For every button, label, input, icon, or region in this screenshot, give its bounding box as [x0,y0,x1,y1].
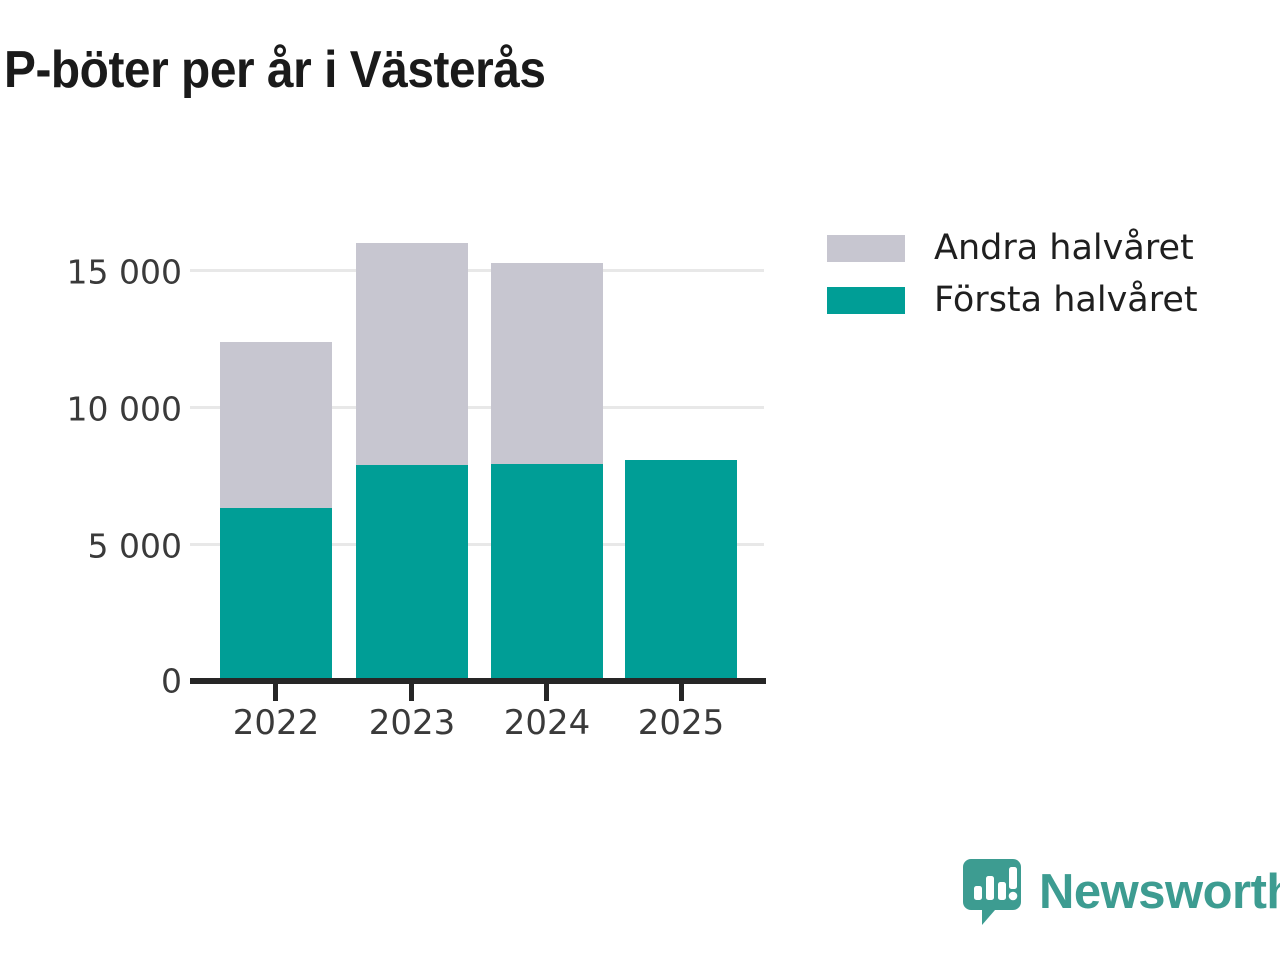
gridline-15000 [190,269,764,272]
xtick-label-2025: 2025 [625,703,737,743]
bar-2022-forsta-halvaret[interactable] [220,508,332,681]
newsworthy-wordmark: Newsworthy [1039,864,1280,920]
legend-item-andra-halvaret[interactable]: Andra halvåret [827,222,1198,274]
newsworthy-bars-icon [963,859,1021,925]
ytick-label-15000: 15 000 [67,253,182,292]
newsworthy-logo[interactable]: Newsworthy [963,859,1280,925]
xtick-label-2023: 2023 [356,703,468,743]
legend-swatch-forsta-halvaret [827,287,905,314]
xtick-2024 [544,684,549,701]
ytick-label-0: 0 [161,662,182,701]
xtick-label-2024: 2024 [491,703,603,743]
legend-label-forsta-halvaret: Första halvåret [934,280,1198,320]
xtick-2023 [409,684,414,701]
xtick-2025 [679,684,684,701]
chart-legend: Andra halvåret Första halvåret [827,222,1198,326]
bar-2024-andra-halvaret[interactable] [491,263,603,464]
chart-plot-area: 15 000 10 000 5 000 0 2022 2023 2024 202… [0,0,1280,960]
bar-2024-forsta-halvaret[interactable] [491,464,603,681]
xtick-2022 [273,684,278,701]
legend-item-forsta-halvaret[interactable]: Första halvåret [827,274,1198,326]
bar-2023-forsta-halvaret[interactable] [356,465,468,681]
ytick-label-5000: 5 000 [88,527,182,566]
legend-label-andra-halvaret: Andra halvåret [934,228,1194,268]
ytick-label-10000: 10 000 [67,390,182,429]
xtick-label-2022: 2022 [220,703,332,743]
legend-swatch-andra-halvaret [827,235,905,262]
bar-2023-andra-halvaret[interactable] [356,243,468,465]
bar-2022-andra-halvaret[interactable] [220,342,332,515]
bar-2025-forsta-halvaret[interactable] [625,460,737,681]
